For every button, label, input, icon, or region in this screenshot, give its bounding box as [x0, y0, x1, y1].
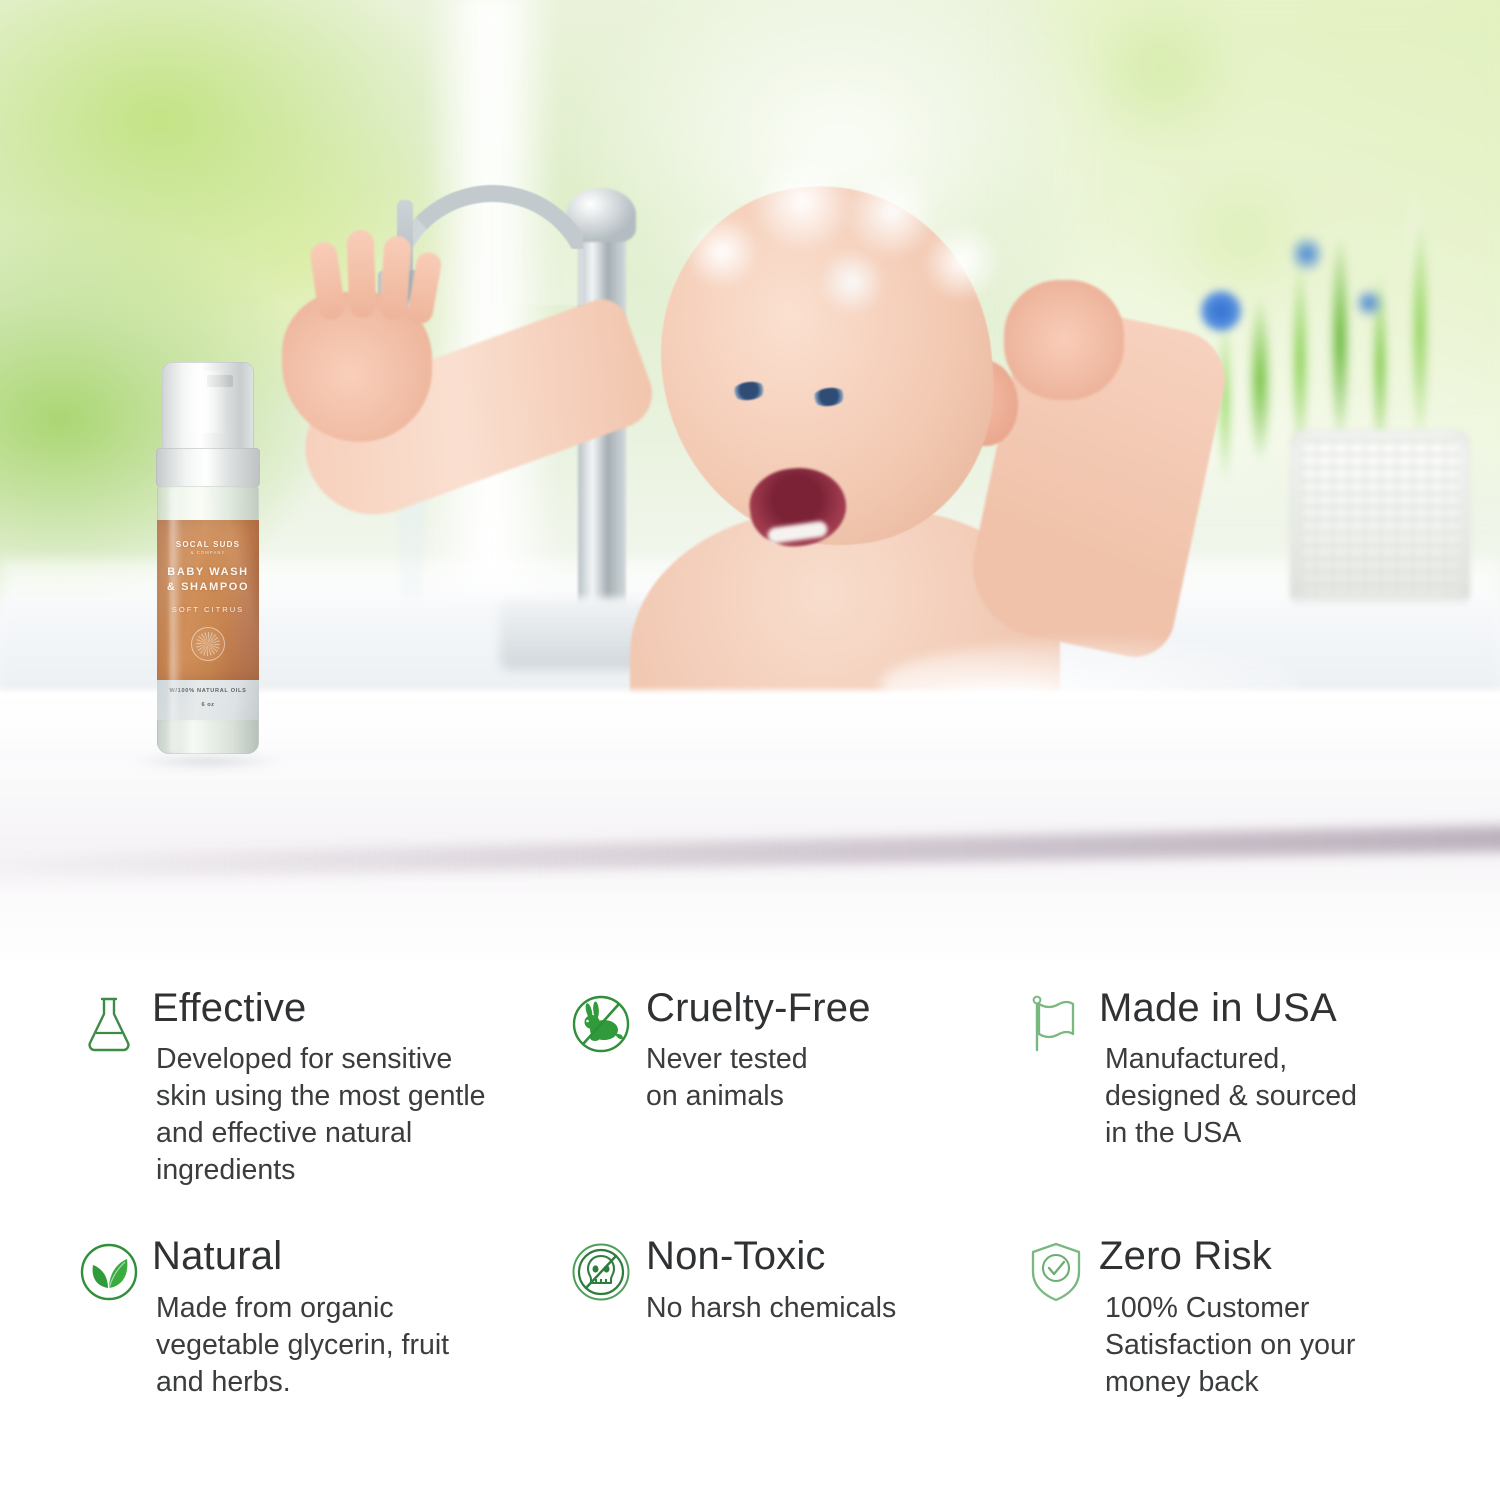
bottle-pump-cap — [162, 362, 254, 454]
leaves-icon — [78, 1241, 140, 1303]
feature-text: Non-Toxic No harsh chemicals — [644, 1235, 1025, 1326]
feature-description: No harsh chemicals — [644, 1290, 1025, 1327]
feature-text: Natural Made from organic vegetable glyc… — [152, 1235, 570, 1400]
feature-non-toxic: Non-Toxic No harsh chemicals — [570, 1235, 1025, 1400]
product-infographic: SOCAL SUDS & COMPANY BABY WASH & SHAMPOO… — [0, 0, 1500, 1500]
product-bottle[interactable]: SOCAL SUDS & COMPANY BABY WASH & SHAMPOO… — [148, 362, 268, 762]
blue-flower — [1356, 286, 1382, 320]
feature-effective: Effective Developed for sensitive skin u… — [78, 987, 570, 1189]
citrus-emblem-icon — [191, 627, 225, 661]
bottle-collar — [156, 448, 260, 488]
feature-made-in-usa: Made in USA Manufactured, designed & sou… — [1025, 987, 1468, 1189]
blue-flower — [1292, 232, 1322, 276]
label-brand: SOCAL SUDS — [148, 540, 268, 549]
flag-icon — [1025, 993, 1087, 1055]
feature-natural: Natural Made from organic vegetable glyc… — [78, 1235, 570, 1400]
label-product-line2: & SHAMPOO — [148, 581, 268, 593]
feature-description: 100% Customer Satisfaction on your money… — [1099, 1290, 1468, 1401]
bottle-highlight — [170, 488, 182, 752]
bottle-shadow — [132, 754, 284, 770]
feature-grid: Effective Developed for sensitive skin u… — [78, 987, 1468, 1401]
feature-title: Cruelty-Free — [644, 987, 1025, 1030]
feature-title: Made in USA — [1099, 987, 1468, 1030]
hero-photo: SOCAL SUDS & COMPANY BABY WASH & SHAMPOO… — [0, 0, 1500, 960]
feature-description: Made from organic vegetable glycerin, fr… — [152, 1290, 570, 1401]
baby-finger — [346, 230, 376, 319]
feature-title: Natural — [152, 1235, 570, 1278]
feature-text: Zero Risk 100% Customer Satisfaction on … — [1099, 1235, 1468, 1400]
feature-zero-risk: Zero Risk 100% Customer Satisfaction on … — [1025, 1235, 1468, 1400]
label-brand-sub: & COMPANY — [148, 550, 268, 555]
feature-title: Non-Toxic — [644, 1235, 1025, 1278]
shield-check-icon — [1025, 1241, 1087, 1303]
feature-text: Cruelty-Free Never tested on animals — [644, 987, 1025, 1115]
label-scent: SOFT CITRUS — [148, 605, 268, 614]
label-natural-oils-claim: W/100% NATURAL OILS — [148, 688, 268, 694]
white-woven-pot — [1290, 430, 1470, 620]
foam-on-head — [652, 142, 1002, 332]
feature-description: Developed for sensitive skin using the m… — [152, 1041, 570, 1189]
feature-description: Manufactured, designed & sourced in the … — [1099, 1041, 1468, 1152]
baby-right-hand — [1004, 280, 1124, 400]
label-size: 6 oz — [148, 702, 268, 708]
feature-title: Zero Risk — [1099, 1235, 1468, 1278]
feature-text: Made in USA Manufactured, designed & sou… — [1099, 987, 1468, 1152]
blue-flower — [1200, 290, 1242, 332]
no-skull-icon — [570, 1241, 632, 1303]
feature-description: Never tested on animals — [644, 1041, 1025, 1115]
label-product-line1: BABY WASH — [148, 566, 268, 578]
window-mullion — [430, 0, 550, 630]
feature-section: Effective Developed for sensitive skin u… — [0, 965, 1500, 1500]
feature-cruelty-free: Cruelty-Free Never tested on animals — [570, 987, 1025, 1189]
no-rabbit-icon — [570, 993, 632, 1055]
flask-icon — [78, 993, 140, 1055]
feature-text: Effective Developed for sensitive skin u… — [152, 987, 570, 1189]
feature-title: Effective — [152, 987, 570, 1030]
